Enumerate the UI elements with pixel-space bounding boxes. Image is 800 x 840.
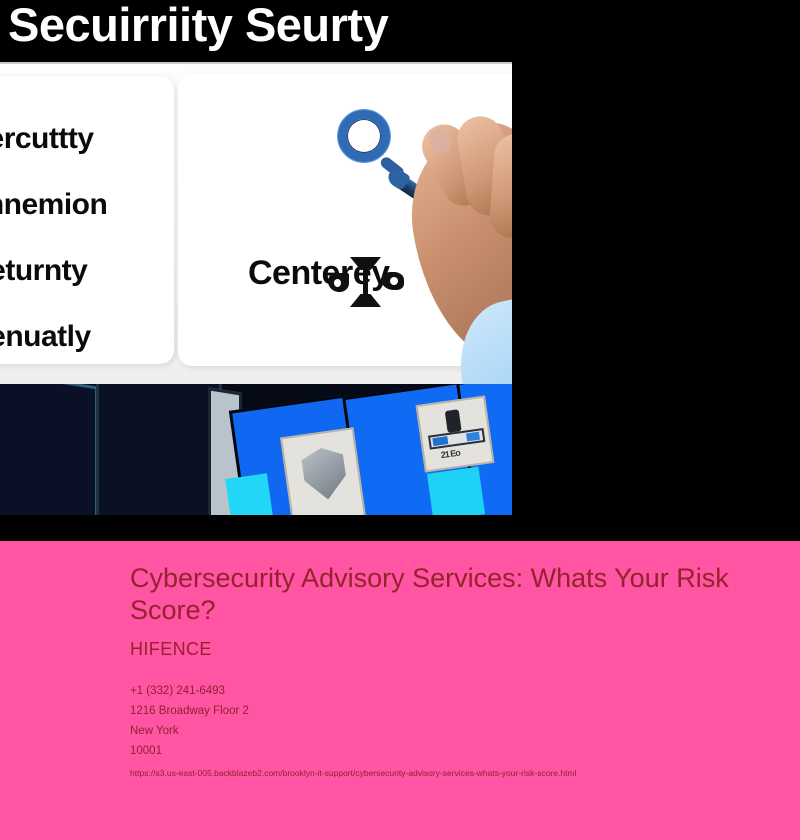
source-url-link[interactable]: https://s3.us-east-005.backblazeb2.com/b… [130,767,780,779]
hero-header-title: Secuirriity Seurty [8,0,388,53]
glyph-cap-bottom [350,294,381,307]
hero-image: Secuirriity Seurty Sercuttty unnemion Re… [0,0,512,515]
shield-icon [280,427,366,515]
monitor-bank: 21 Eo [0,384,512,515]
hero-media-block: Secuirriity Seurty Sercuttty unnemion Re… [0,0,800,541]
letterbox-bottom [0,515,512,541]
board-line: Returnty [0,238,174,304]
contact-zip: 10001 [130,741,780,761]
id-card-icon: 21 Eo [416,395,495,472]
shield-glyph [300,445,349,502]
abstract-glyph-icon [326,257,404,307]
board-card-left-lines: Sercuttty unnemion Returnty Cenuatly [0,106,174,364]
id-card-strip [428,428,485,450]
board-line: Sercuttty [0,106,174,172]
page-title: Cybersecurity Advisory Services: Whats Y… [130,562,730,626]
contact-details-list: +1 (332) 241-6493 1216 Broadway Floor 2 … [130,681,780,761]
info-panel-content: Cybersecurity Advisory Services: Whats Y… [130,562,780,779]
board-edge-divider [0,62,512,64]
magnifier-ring [338,110,390,162]
id-card-label: 21 Eo [440,448,460,461]
glyph-blob-right [381,272,404,290]
board-line: Cenuatly [0,304,174,364]
contact-phone: +1 (332) 241-6493 [130,681,780,701]
monitor-highlight [427,467,485,515]
contact-city: New York [130,721,780,741]
hero-header-strip: Secuirriity Seurty [0,0,512,62]
board-card-left: Sercuttty unnemion Returnty Cenuatly [0,76,174,364]
contact-street: 1216 Broadway Floor 2 [130,701,780,721]
info-panel: Cybersecurity Advisory Services: Whats Y… [0,541,800,840]
board-card-right: Centerey Seoarlts [178,74,512,366]
magnifier-handle [379,155,406,180]
id-card-photo [445,409,462,433]
monitor-panel [96,384,222,515]
letterbox-right [512,0,800,541]
board-line: unnemion [0,172,174,238]
magnifier-icon [338,110,400,172]
glyph-blob-left [328,273,349,292]
brand-name: HIFENCE [130,639,780,659]
whiteboard-surface: Sercuttty unnemion Returnty Cenuatly Cen… [0,62,512,384]
monitor-highlight [225,473,272,515]
monitor-panel [0,384,98,515]
